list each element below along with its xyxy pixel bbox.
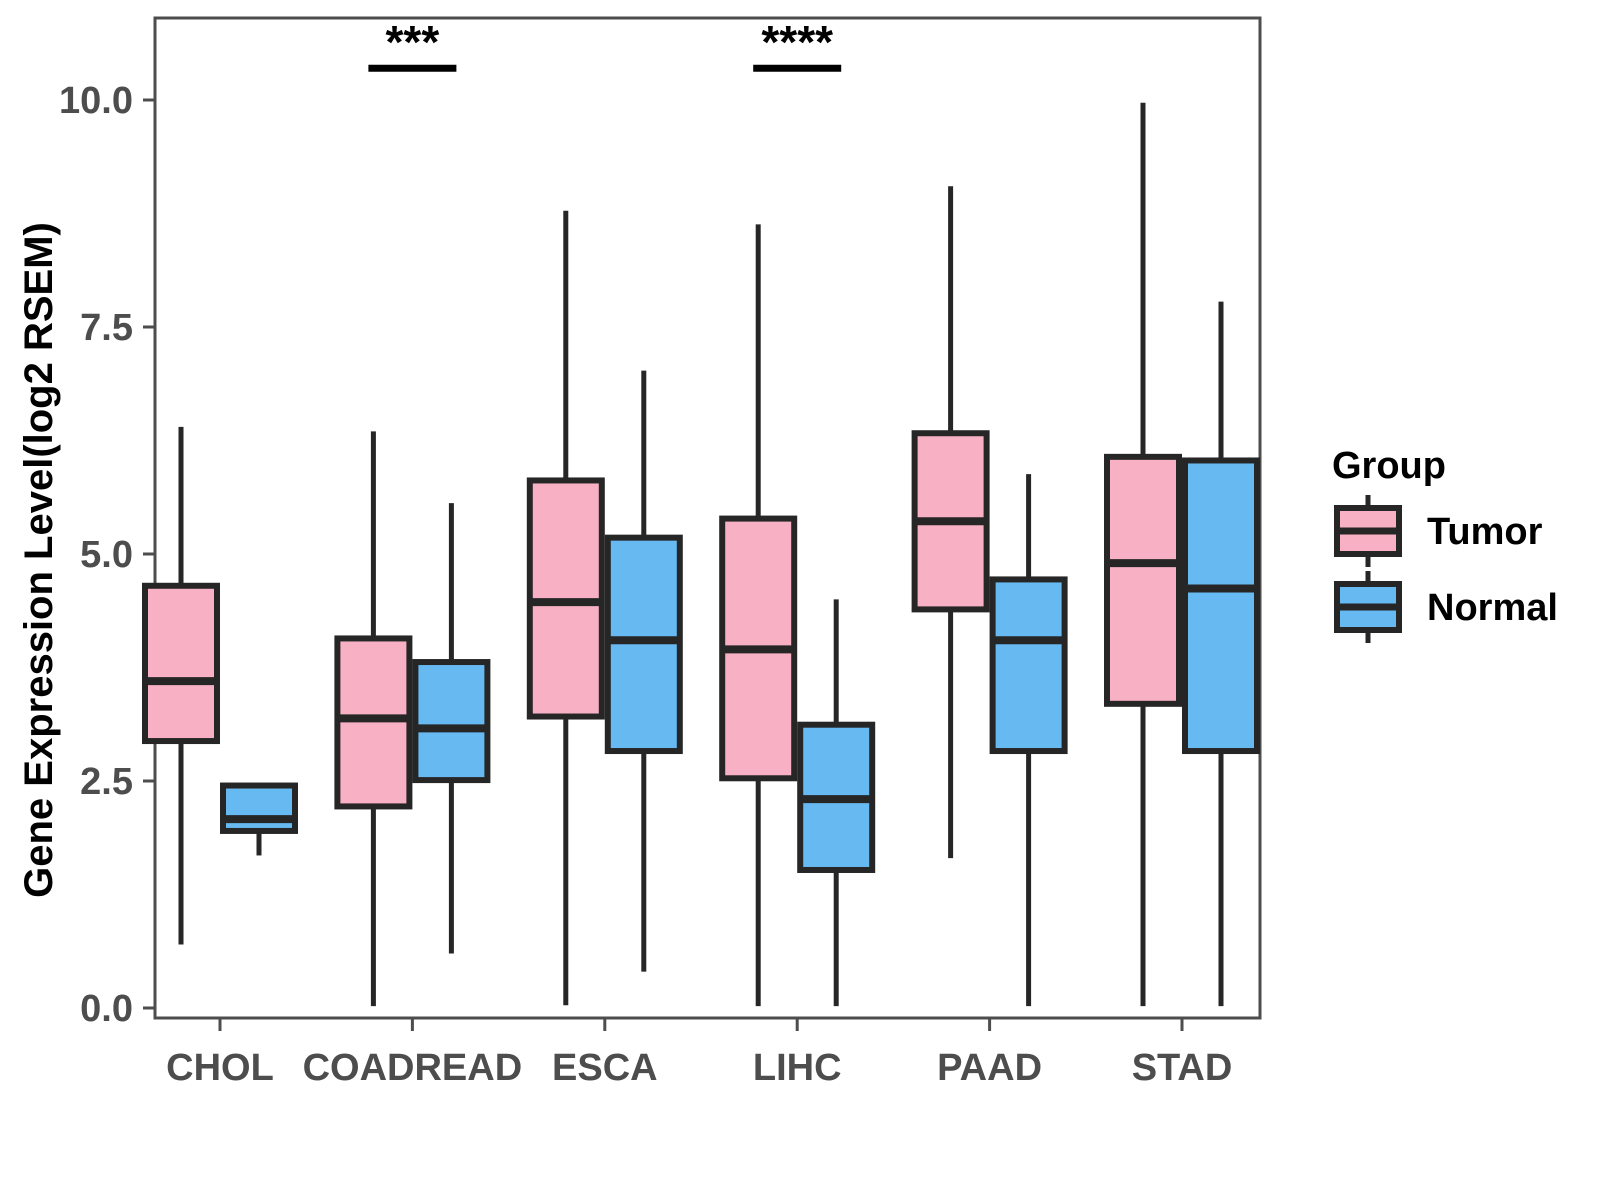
x-axis-label-esca: ESCA [552,1047,658,1089]
x-axis-label-lihc: LIHC [753,1047,842,1089]
boxplot-figure: Gene Expression Level(log2 RSEM) 0.02.55… [0,0,1600,1200]
x-axis-label-coadread: COADREAD [303,1047,523,1089]
significance-stars: **** [761,16,833,68]
x-axis-label-chol: CHOL [166,1047,274,1089]
box-rect [608,538,680,751]
y-tick-label: 10.0 [59,80,133,122]
box-rect [1107,457,1179,704]
y-tick-label: 7.5 [80,307,133,349]
x-axis-label-stad: STAD [1132,1047,1233,1089]
y-tick-label: 0.0 [80,988,133,1030]
y-tick-label: 5.0 [80,534,133,576]
box-rect [415,662,487,780]
legend-title: Group [1332,445,1446,487]
box-rect [337,638,409,806]
legend-label-normal: Normal [1427,587,1558,629]
significance-stars: *** [386,16,440,68]
box-rect [1185,460,1257,751]
legend-label-tumor: Tumor [1427,511,1543,553]
box-rect [145,586,217,741]
y-axis-title: Gene Expression Level(log2 RSEM) [17,222,61,898]
y-tick-label: 2.5 [80,761,133,803]
chart-root: Gene Expression Level(log2 RSEM) 0.02.55… [0,0,1600,1200]
box-rect [223,786,295,831]
x-axis-label-paad: PAAD [937,1047,1042,1089]
box-rect [993,579,1065,751]
